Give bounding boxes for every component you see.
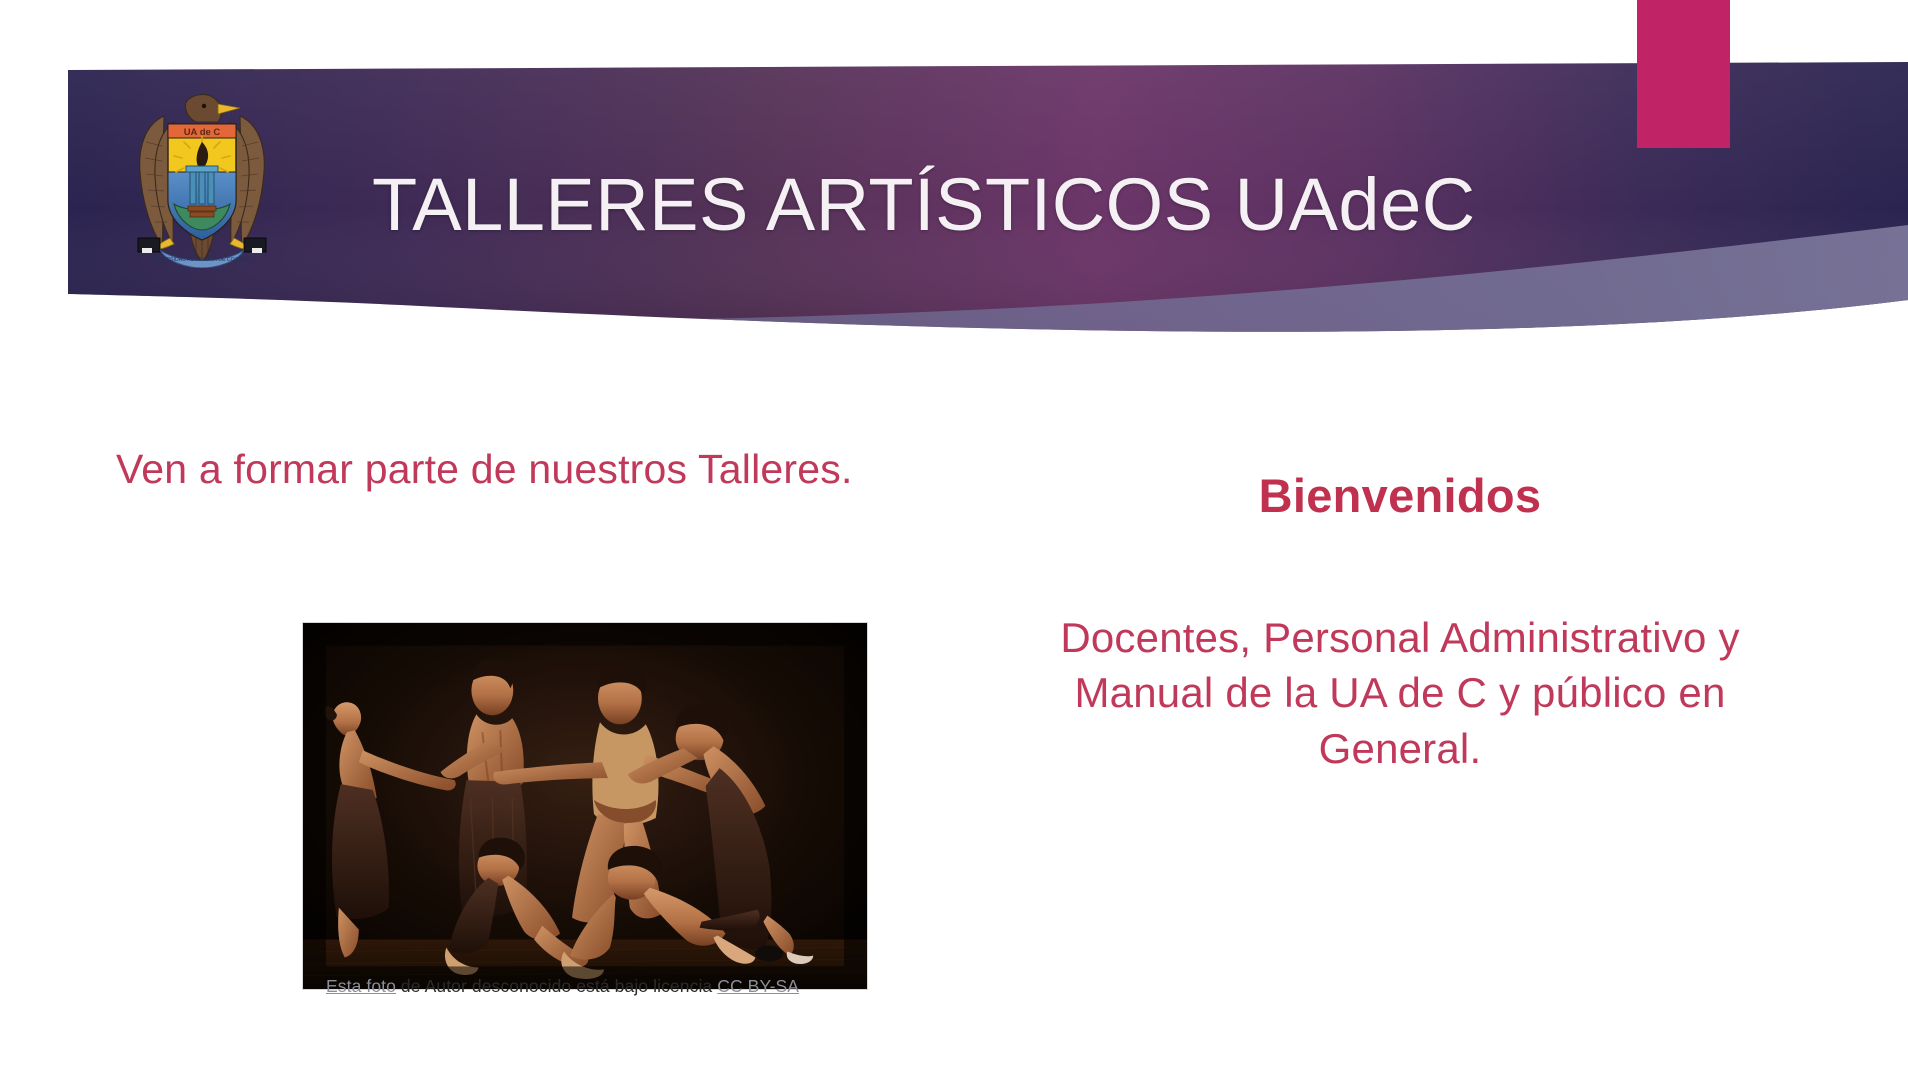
contemporary-dance-group-photo (302, 622, 868, 990)
photo-block (302, 622, 868, 990)
welcome-heading: Bienvenidos (1020, 470, 1780, 522)
uadec-logo-icon: UA de C (118, 88, 286, 268)
slide-canvas: UA de C (0, 0, 1908, 1080)
right-text-column: Bienvenidos Docentes, Personal Administr… (1020, 470, 1780, 776)
page-title: TALLERES ARTÍSTICOS UAdeC (372, 166, 1552, 244)
lead-paragraph: Ven a formar parte de nuestros Talleres. (116, 443, 876, 496)
accent-bar (1637, 0, 1730, 148)
logo-motto-text: UNIVERSIDAD AUTÓNOMA DE COAHUILA (151, 256, 254, 263)
audience-paragraph: Docentes, Personal Administrativo y Manu… (1020, 522, 1780, 776)
